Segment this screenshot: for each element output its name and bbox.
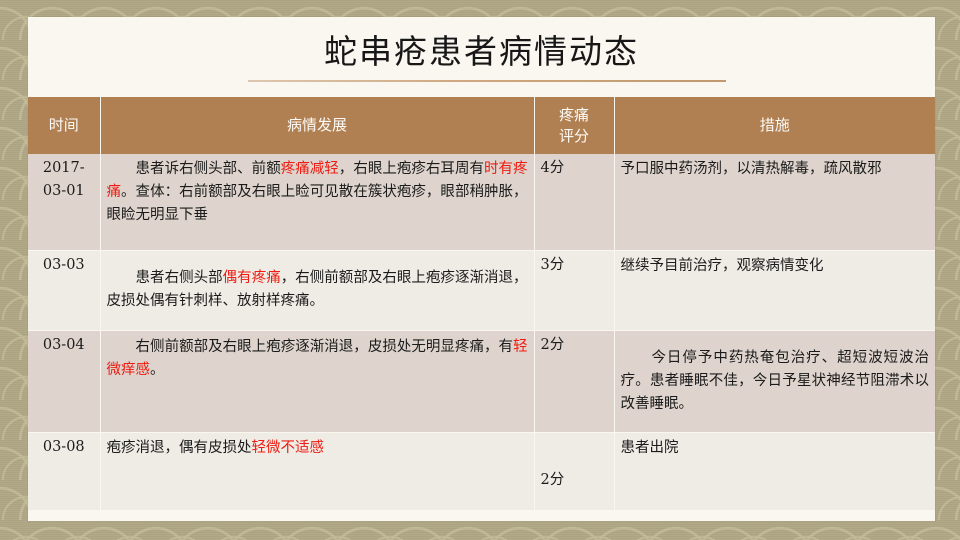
cell-time: 03-04 [28,330,100,432]
cell-pain-score: 2分 [534,330,614,432]
page-title: 蛇串疮患者病情动态 [28,29,935,75]
cell-time: 03-08 [28,432,100,510]
title-block: 蛇串疮患者病情动态 [28,17,935,95]
development-highlight-text: 轻微不适感 [252,440,325,456]
cell-time: 03-03 [28,250,100,330]
table-header: 时间 病情发展 疼痛 评分 措施 [28,97,935,154]
column-header-measures: 措施 [614,97,935,154]
cell-pain-score: 4分 [534,154,614,250]
measures-text: 予口服中药汤剂，以清热解毒，疏风散邪 [621,161,882,177]
cell-pain-score: 2分 [534,432,614,510]
measures-text: 继续予目前治疗，观察病情变化 [621,258,824,274]
development-text: 。查体：右前额部及右眼上睑可见散在簇状疱疹，眼部稍肿胀，眼睑无明显下垂 [107,184,528,223]
cell-measures: 予口服中药汤剂，以清热解毒，疏风散邪 [614,154,935,250]
table-row: 03-08疱疹消退，偶有皮损处轻微不适感2分患者出院 [28,432,935,510]
column-header-pain-score-line2: 评分 [559,127,589,145]
slide-canvas: 蛇串疮患者病情动态 时间 病情发展 疼痛 评分 措施 [0,0,960,540]
development-text: ，右眼上疱疹右耳周有 [339,161,484,177]
content-card: 蛇串疮患者病情动态 时间 病情发展 疼痛 评分 措施 [28,17,935,521]
column-header-pain-score: 疼痛 评分 [534,97,614,154]
disease-progress-table-wrapper: 时间 病情发展 疼痛 评分 措施 2017- 03-01 患者诉右侧头部、前额疼… [28,97,935,511]
table-row: 03-03 患者右侧头部偶有疼痛，右侧前额部及右眼上疱疹逐渐消退，皮损处偶有针刺… [28,250,935,330]
cell-development: 患者右侧头部偶有疼痛，右侧前额部及右眼上疱疹逐渐消退，皮损处偶有针刺样、放射样疼… [100,250,534,330]
development-highlight-text: 偶有疼痛 [223,270,281,286]
development-text: 右侧前额部及右眼上疱疹逐渐消退，皮损处无明显疼痛，有 [107,339,514,355]
table-row: 03-04 右侧前额部及右眼上疱疹逐渐消退，皮损处无明显疼痛，有轻微痒感。2分 … [28,330,935,432]
column-header-development: 病情发展 [100,97,534,154]
cell-development: 右侧前额部及右眼上疱疹逐渐消退，皮损处无明显疼痛，有轻微痒感。 [100,330,534,432]
measures-text: 今日停予中药热奄包治疗、超短波短波治疗。患者睡眠不佳，今日予星状神经节阻滞术以改… [621,350,930,412]
disease-progress-table: 时间 病情发展 疼痛 评分 措施 2017- 03-01 患者诉右侧头部、前额疼… [28,97,935,511]
development-text: 疱疹消退，偶有皮损处 [107,440,252,456]
table-body: 2017- 03-01 患者诉右侧头部、前额疼痛减轻，右眼上疱疹右耳周有时有疼痛… [28,154,935,510]
development-highlight-text: 疼痛减轻 [281,161,339,177]
development-text: 。 [150,362,165,378]
table-header-row: 时间 病情发展 疼痛 评分 措施 [28,97,935,154]
cell-development: 患者诉右侧头部、前额疼痛减轻，右眼上疱疹右耳周有时有疼痛。查体：右前额部及右眼上… [100,154,534,250]
cell-measures: 患者出院 [614,432,935,510]
column-header-time: 时间 [28,97,100,154]
development-text: 患者右侧头部 [107,270,223,286]
cell-pain-score: 3分 [534,250,614,330]
title-divider-rule [248,80,726,82]
cell-development: 疱疹消退，偶有皮损处轻微不适感 [100,432,534,510]
development-text: 患者诉右侧头部、前额 [107,161,281,177]
column-header-pain-score-line1: 疼痛 [559,106,589,124]
cell-measures: 继续予目前治疗，观察病情变化 [614,250,935,330]
cell-time: 2017- 03-01 [28,154,100,250]
table-row: 2017- 03-01 患者诉右侧头部、前额疼痛减轻，右眼上疱疹右耳周有时有疼痛… [28,154,935,250]
measures-text: 患者出院 [621,440,679,456]
cell-measures: 今日停予中药热奄包治疗、超短波短波治疗。患者睡眠不佳，今日予星状神经节阻滞术以改… [614,330,935,432]
